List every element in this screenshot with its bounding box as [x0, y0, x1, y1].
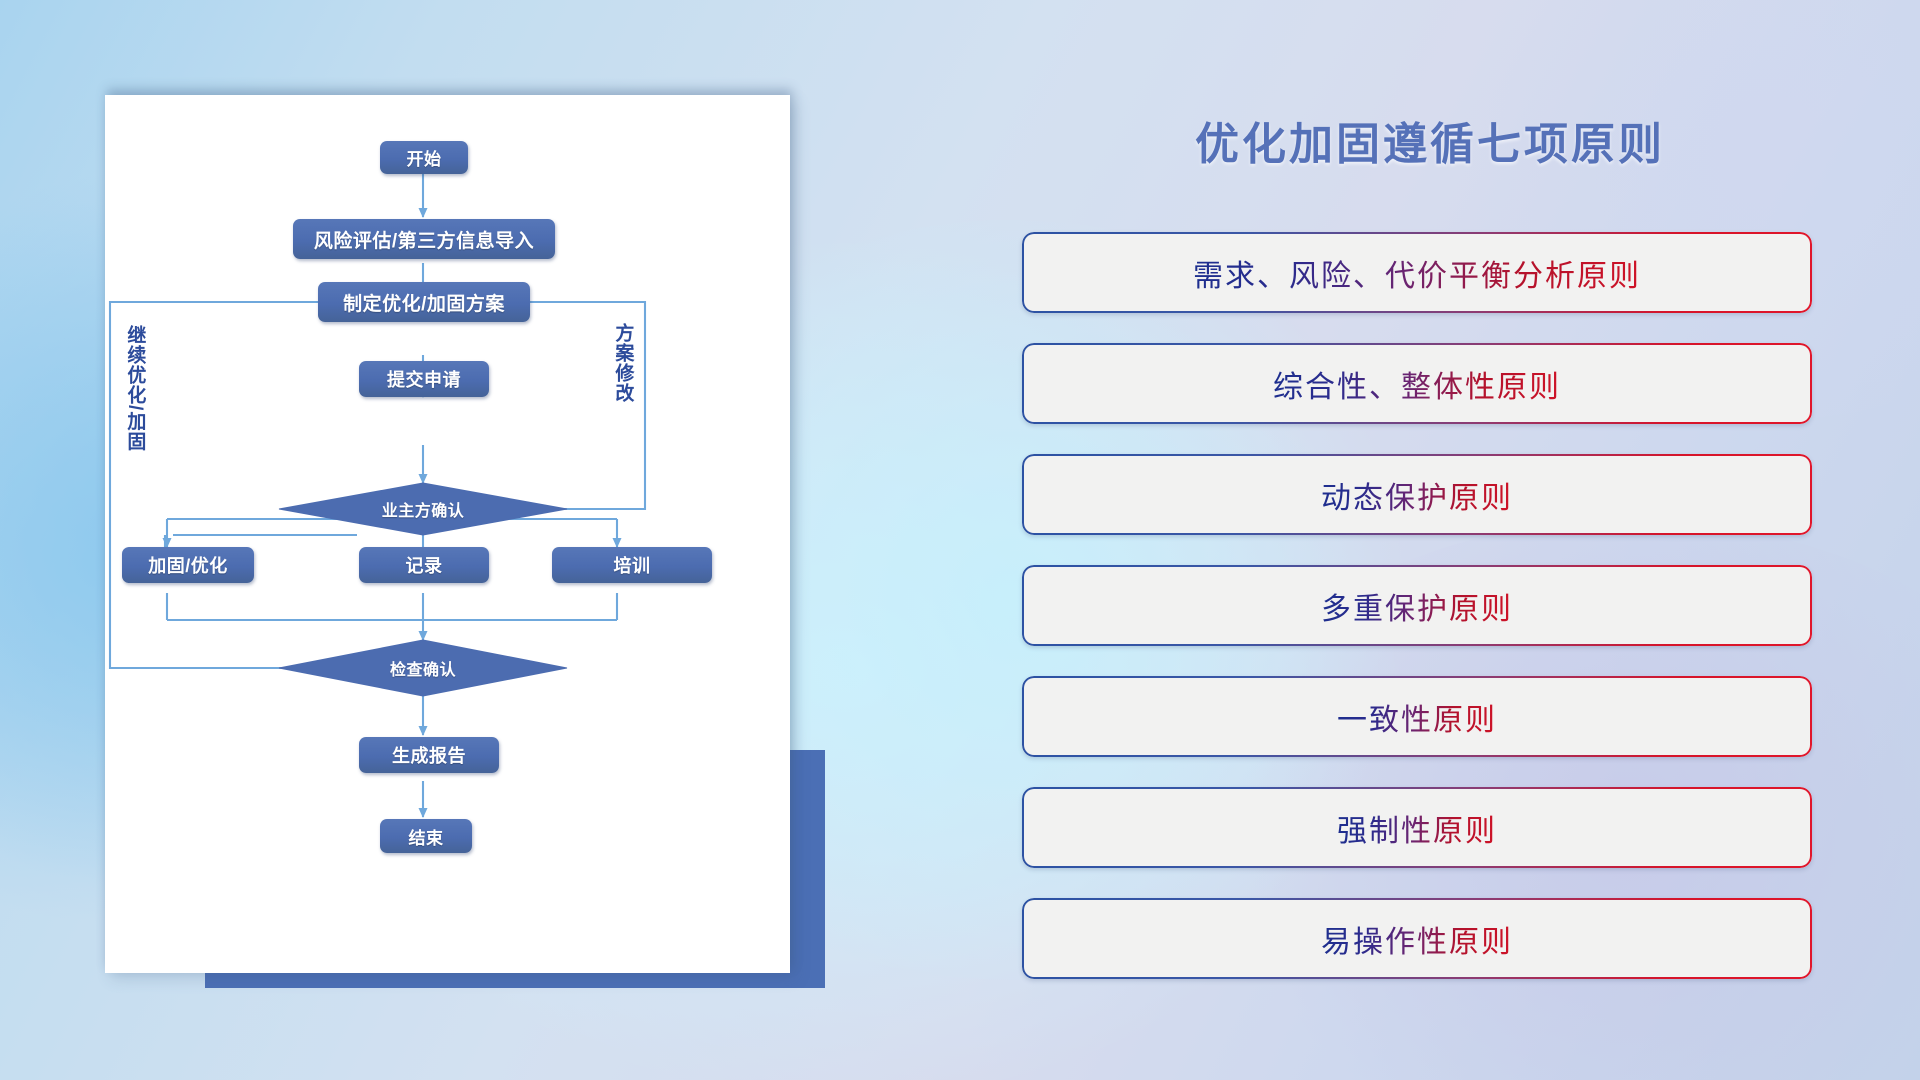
flow-node-record[interactable]: 记录: [359, 547, 489, 583]
flow-node-training[interactable]: 培训: [552, 547, 712, 583]
flow-edge-label-left-loop: 继续优化/加固: [125, 325, 144, 451]
principle-card-1[interactable]: 需求、风险、代价平衡分析原则: [1022, 232, 1812, 313]
principle-card-5[interactable]: 一致性原则: [1022, 676, 1812, 757]
principle-label: 需求、风险、代价平衡分析原则: [1193, 251, 1641, 295]
principles-list: 需求、风险、代价平衡分析原则 综合性、整体性原则 动态保护原则 多重保护原则 一…: [1022, 232, 1812, 1009]
flow-node-end[interactable]: 结束: [380, 819, 472, 853]
flow-node-check-confirm-label: 检查确认: [390, 656, 456, 680]
flow-node-report-label: 生成报告: [392, 742, 466, 768]
principle-card-7[interactable]: 易操作性原则: [1022, 898, 1812, 979]
flow-node-submit[interactable]: 提交申请: [359, 361, 489, 397]
flow-node-end-label: 结束: [409, 824, 444, 849]
flowchart-panel: 开始 风险评估/第三方信息导入 制定优化/加固方案 提交申请 业主方确认 加固/…: [105, 95, 790, 973]
principle-card-2[interactable]: 综合性、整体性原则: [1022, 343, 1812, 424]
flow-node-reinforce-label: 加固/优化: [148, 552, 228, 578]
flow-node-check-confirm[interactable]: 检查确认: [279, 640, 567, 696]
principle-label: 综合性、整体性原则: [1273, 362, 1561, 406]
principle-label: 一致性原则: [1337, 695, 1497, 739]
principle-label: 强制性原则: [1337, 806, 1497, 850]
flow-node-risk-assessment-label: 风险评估/第三方信息导入: [314, 226, 534, 253]
principle-card-6[interactable]: 强制性原则: [1022, 787, 1812, 868]
flow-node-submit-label: 提交申请: [387, 366, 461, 392]
flow-node-record-label: 记录: [406, 552, 443, 578]
principle-label: 动态保护原则: [1321, 473, 1513, 517]
flow-node-report[interactable]: 生成报告: [359, 737, 499, 773]
flow-node-plan-label: 制定优化/加固方案: [343, 289, 505, 316]
flow-node-risk-assessment[interactable]: 风险评估/第三方信息导入: [293, 219, 555, 259]
flow-node-owner-confirm[interactable]: 业主方确认: [279, 483, 567, 535]
page-title: 优化加固遵循七项原则: [1020, 108, 1840, 172]
principle-card-4[interactable]: 多重保护原则: [1022, 565, 1812, 646]
flow-edge-label-right-loop: 方案修改: [613, 323, 632, 403]
principle-card-3[interactable]: 动态保护原则: [1022, 454, 1812, 535]
flow-node-plan[interactable]: 制定优化/加固方案: [318, 282, 530, 322]
flow-node-training-label: 培训: [614, 552, 651, 578]
flow-node-start-label: 开始: [407, 145, 442, 170]
flow-node-reinforce[interactable]: 加固/优化: [122, 547, 254, 583]
slide-canvas: 开始 风险评估/第三方信息导入 制定优化/加固方案 提交申请 业主方确认 加固/…: [0, 0, 1920, 1080]
principle-label: 易操作性原则: [1321, 917, 1513, 961]
flow-node-start[interactable]: 开始: [380, 141, 468, 174]
principle-label: 多重保护原则: [1321, 584, 1513, 628]
flow-node-owner-confirm-label: 业主方确认: [382, 497, 465, 521]
